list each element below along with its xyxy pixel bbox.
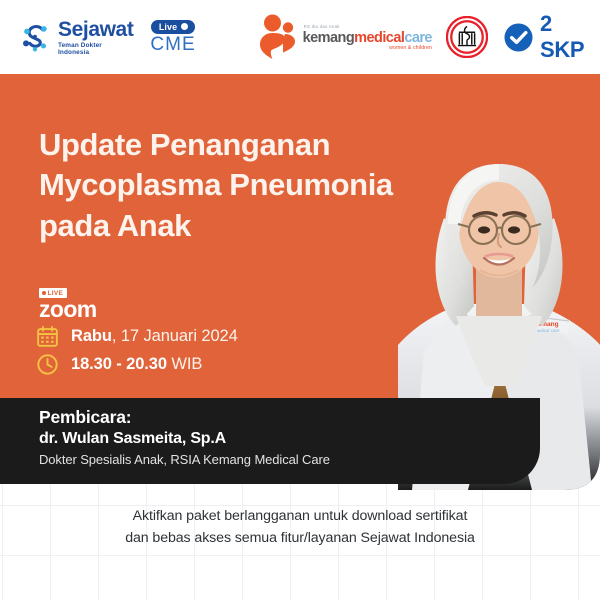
zoom-logo-icon: LIVE zoom: [39, 288, 97, 321]
event-date-rest: , 17 Januari 2024: [112, 327, 238, 345]
zoom-live-dot-icon: [42, 291, 46, 295]
title-line-3: pada Anak: [39, 206, 439, 246]
blue-check-circle-icon: [504, 23, 533, 52]
event-date-text: Rabu, 17 Januari 2024: [71, 327, 238, 346]
title-line-1: Update Penanganan: [39, 125, 439, 165]
event-time-zone: WIB: [167, 355, 202, 373]
webinar-poster: Sejawat Teman Dokter Indonesia Live CME: [0, 0, 600, 600]
kemang-parent-child-heart-icon: [259, 14, 299, 60]
cme-label: CME: [150, 35, 195, 55]
calendar-icon: [37, 326, 58, 347]
event-date-row: Rabu, 17 Januari 2024: [37, 326, 238, 347]
speaker-label: Pembicara:: [39, 407, 540, 428]
clock-icon: [37, 354, 58, 375]
skp-credit-badge: 2 SKP: [504, 11, 600, 63]
sejawat-brand-name: Sejawat: [58, 19, 133, 40]
kemang-word-medical: medical: [354, 30, 404, 46]
live-label: Live: [159, 22, 177, 32]
kemang-wordmark: kemangmedicalcare: [303, 31, 432, 46]
idi-seal-icon: [446, 16, 488, 58]
footer-line-1: Aktifkan paket berlangganan untuk downlo…: [0, 506, 600, 528]
header-bar: Sejawat Teman Dokter Indonesia Live CME: [0, 0, 600, 74]
live-cme-badge[interactable]: Live CME: [150, 20, 195, 55]
title-line-2: Mycoplasma Pneumonia: [39, 165, 439, 205]
speaker-description: Dokter Spesialis Anak, RSIA Kemang Medic…: [39, 452, 540, 467]
kemang-word-care: care: [404, 30, 432, 46]
live-dot-icon: [181, 23, 188, 30]
footer-note: Aktifkan paket berlangganan untuk downlo…: [0, 506, 600, 549]
kemang-subtitle: women & children: [303, 46, 432, 51]
skp-credits-label: 2 SKP: [540, 11, 600, 63]
sejawat-logo[interactable]: Sejawat Teman Dokter Indonesia: [18, 19, 133, 56]
event-time-text: 18.30 - 20.30 WIB: [71, 355, 202, 374]
sejawat-network-s-icon: [18, 20, 52, 54]
kemang-word-kemang: kemang: [303, 30, 355, 46]
sejawat-tagline: Teman Dokter Indonesia: [58, 42, 133, 56]
footer-line-2: dan bebas akses semua fitur/layanan Seja…: [0, 528, 600, 550]
speaker-name: dr. Wulan Sasmeita, Sp.A: [39, 430, 540, 448]
zoom-wordmark: zoom: [39, 299, 97, 321]
event-time-range: 18.30 - 20.30: [71, 355, 167, 373]
event-day: Rabu: [71, 327, 112, 345]
page-title: Update Penanganan Mycoplasma Pneumonia p…: [39, 125, 439, 246]
speaker-panel: Pembicara: dr. Wulan Sasmeita, Sp.A Dokt…: [0, 398, 540, 484]
event-time-row: 18.30 - 20.30 WIB: [37, 354, 202, 375]
kemang-medical-care-logo[interactable]: RS Ibu dan Anak kemangmedicalcare women …: [259, 14, 432, 60]
live-pill: Live: [151, 20, 195, 34]
